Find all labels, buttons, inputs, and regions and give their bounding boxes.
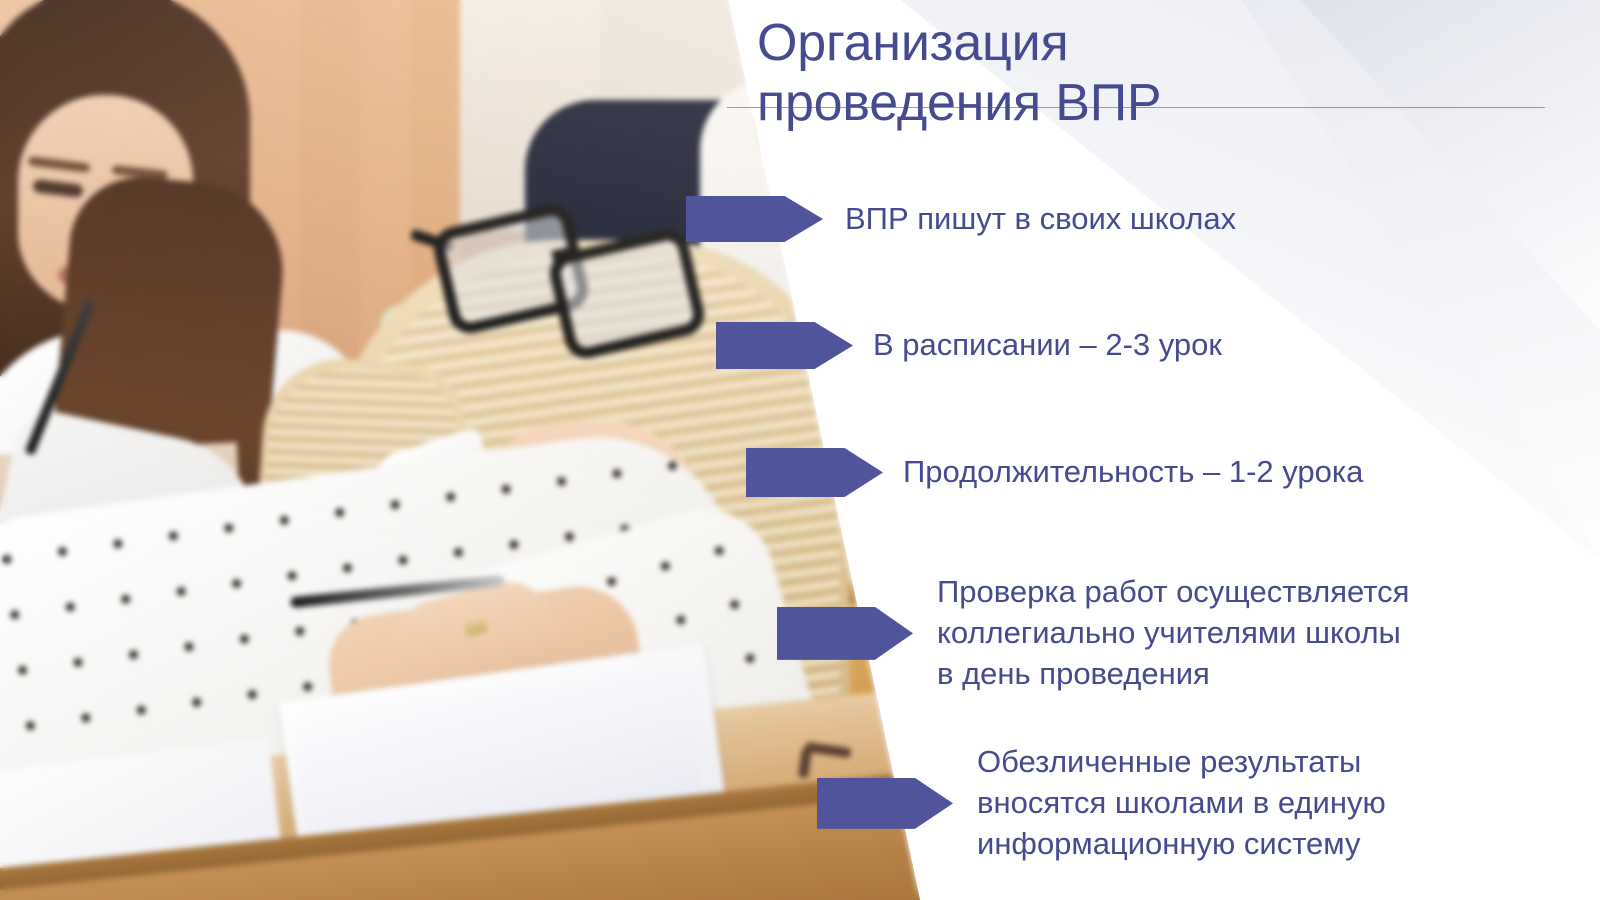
chevron-arrow-icon	[777, 607, 913, 660]
corner-fold-shape-c	[1300, 0, 1600, 330]
bullet-item-5[interactable]: Обезличенные результаты вносятся школами…	[817, 742, 1386, 865]
bullet-label-4: Проверка работ осуществляется коллегиаль…	[937, 572, 1409, 695]
slide-title: Организация проведения ВПР	[757, 14, 1317, 134]
bullet-label-3: Продолжительность – 1-2 урока	[903, 452, 1363, 493]
bullet-label-2: В расписании – 2-3 урок	[873, 325, 1222, 366]
presentation-slide: Организация проведения ВПР ВПР пишут в с…	[0, 0, 1600, 900]
bullet-label-1: ВПР пишут в своих школах	[845, 199, 1236, 240]
chevron-arrow-icon	[686, 196, 823, 242]
bullet-label-5: Обезличенные результаты вносятся школами…	[977, 742, 1386, 865]
photo-student-braid	[852, 129, 925, 432]
bullet-item-3[interactable]: Продолжительность – 1-2 урока	[746, 448, 1363, 497]
bullet-item-4[interactable]: Проверка работ осуществляется коллегиаль…	[777, 572, 1409, 695]
chevron-arrow-icon	[716, 322, 853, 369]
chevron-arrow-icon	[746, 448, 883, 497]
bullet-item-1[interactable]: ВПР пишут в своих школах	[686, 196, 1236, 242]
chevron-arrow-icon	[817, 778, 953, 829]
bullet-item-2[interactable]: В расписании – 2-3 урок	[716, 322, 1222, 369]
